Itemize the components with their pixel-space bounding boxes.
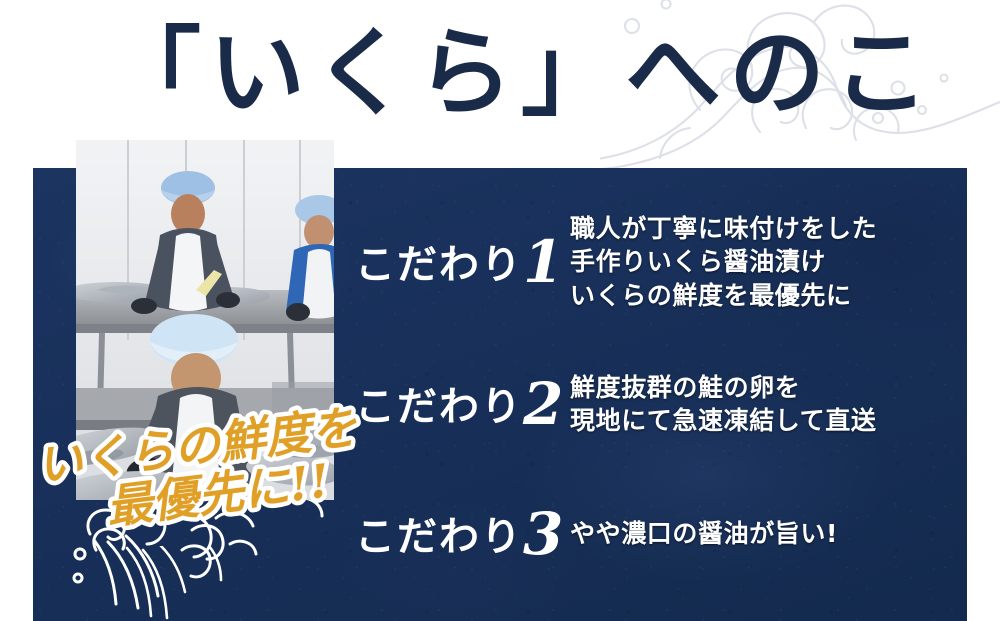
feature-label-2: こだわり 2 <box>355 362 570 446</box>
feature-label-text-1: こだわり <box>355 241 523 288</box>
page-title: 「いくら」へのこだわり <box>105 14 935 134</box>
feature-body-1: 職人が丁寧に味付けをした 手作りいくら醤油漬け いくらの鮮度を最優先に <box>570 212 877 312</box>
page-title-text: 「いくら」へのこだわり <box>105 16 935 129</box>
feature-number-3: 3 <box>523 500 563 568</box>
feature-body-2: 鮮度抜群の鮭の卵を 現地にて急速凍結して直送 <box>570 371 876 438</box>
feature-item-1: こだわり 1 職人が丁寧に味付けをした 手作りいくら醤油漬け いくらの鮮度を最優… <box>355 212 877 312</box>
feature-item-3: こだわり 3 やや濃口の醤油が旨い! <box>355 492 838 576</box>
feature-body-3: やや濃口の醤油が旨い! <box>570 517 838 550</box>
factory-photo <box>76 140 334 500</box>
promo-banner: 「いくら」へのこだわり <box>0 0 1000 621</box>
wave-strokes-icon <box>113 546 263 621</box>
feature-number-2: 2 <box>522 370 563 438</box>
feature-label-1: こだわり 1 <box>355 220 570 304</box>
feature-item-2: こだわり 2 鮮度抜群の鮭の卵を 現地にて急速凍結して直送 <box>355 362 876 446</box>
feature-label-3: こだわり 3 <box>355 492 570 576</box>
feature-number-1: 1 <box>523 228 563 296</box>
feature-label-text-3: こだわり <box>355 513 523 560</box>
wave-line-art-icon <box>70 492 330 617</box>
feature-label-text-2: こだわり <box>355 383 523 430</box>
